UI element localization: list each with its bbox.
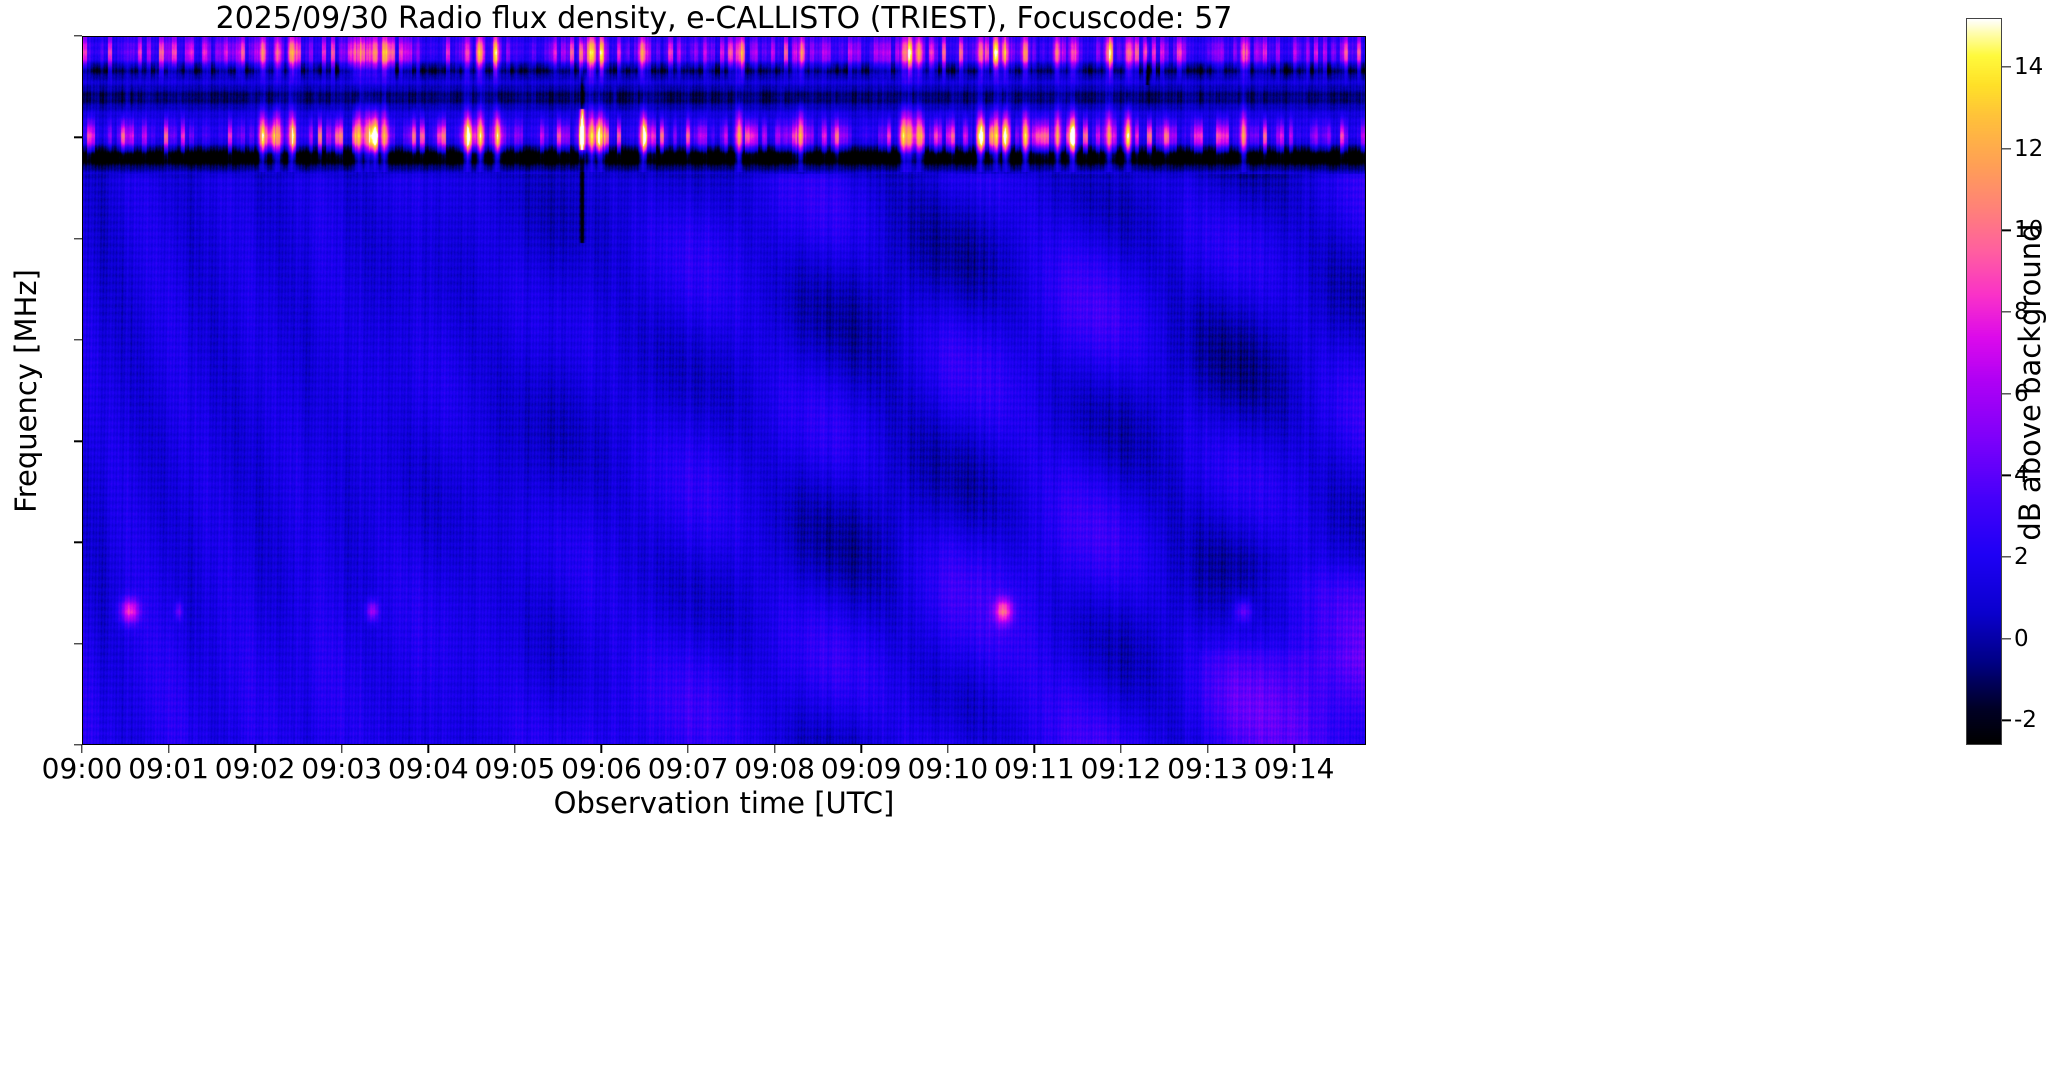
- x-tick-label: 09:09: [821, 752, 902, 785]
- colorbar-tick-label: -2: [2014, 707, 2037, 733]
- colorbar-tick-mark: [2002, 311, 2011, 312]
- x-tick-label: 09:12: [1081, 752, 1162, 785]
- x-tick-label: 09:07: [648, 752, 729, 785]
- x-tick-label: 09:14: [1254, 752, 1335, 785]
- x-axis-label: Observation time [UTC]: [82, 786, 1366, 820]
- x-tick-mark: [601, 745, 602, 753]
- x-tick-label: 09:06: [561, 752, 642, 785]
- x-tick-mark: [341, 745, 342, 753]
- colorbar-tick-mark: [2002, 393, 2011, 394]
- y-axis-label: Frequency [MHz]: [9, 269, 43, 513]
- y-tick-mark: [74, 643, 82, 644]
- colorbar-tick-mark: [2002, 475, 2011, 476]
- x-tick-mark: [947, 745, 948, 753]
- figure-title: 2025/09/30 Radio flux density, e-CALLIST…: [82, 2, 1366, 36]
- x-tick-label: 09:10: [907, 752, 988, 785]
- y-tick-mark: [74, 238, 82, 239]
- spectrogram-axes[interactable]: [82, 36, 1366, 745]
- x-tick-label: 09:11: [994, 752, 1075, 785]
- x-tick-label: 09:02: [215, 752, 296, 785]
- x-tick-label: 09:13: [1167, 752, 1248, 785]
- colorbar-tick-label: 14: [2014, 54, 2043, 80]
- x-tick-mark: [254, 745, 255, 753]
- spectrogram-image[interactable]: [82, 36, 1366, 745]
- x-tick-mark: [428, 745, 429, 753]
- colorbar-tick-mark: [2002, 638, 2011, 639]
- x-tick-label: 09:04: [388, 752, 469, 785]
- x-tick-mark: [687, 745, 688, 753]
- x-tick-mark: [774, 745, 775, 753]
- colorbar-tick-label: 0: [2014, 626, 2029, 652]
- colorbar-tick-mark: [2002, 230, 2011, 231]
- y-tick-mark: [74, 440, 82, 441]
- colorbar-tick-label: 12: [2014, 136, 2043, 162]
- x-tick-mark: [81, 745, 82, 753]
- x-tick-mark: [1293, 745, 1294, 753]
- y-tick-mark: [74, 137, 82, 138]
- x-tick-label: 09:01: [128, 752, 209, 785]
- colorbar-tick-mark: [2002, 556, 2011, 557]
- x-tick-mark: [514, 745, 515, 753]
- colorbar-tick-mark: [2002, 148, 2011, 149]
- colorbar-gradient: [1966, 18, 2002, 745]
- colorbar-tick-mark: [2002, 720, 2011, 721]
- x-tick-mark: [1207, 745, 1208, 753]
- x-tick-mark: [1120, 745, 1121, 753]
- y-tick-mark: [74, 339, 82, 340]
- colorbar-label: dB above background: [2013, 223, 2047, 540]
- x-tick-label: 09:08: [734, 752, 815, 785]
- x-tick-label: 09:03: [301, 752, 382, 785]
- x-tick-mark: [1034, 745, 1035, 753]
- x-tick-mark: [861, 745, 862, 753]
- y-tick-mark: [74, 35, 82, 36]
- x-tick-mark: [168, 745, 169, 753]
- figure-root: 2025/09/30 Radio flux density, e-CALLIST…: [0, 0, 2047, 1067]
- colorbar-tick-label: 2: [2014, 544, 2029, 570]
- y-tick-mark: [74, 542, 82, 543]
- colorbar-tick-mark: [2002, 66, 2011, 67]
- x-tick-label: 09:05: [475, 752, 556, 785]
- colorbar[interactable]: [1966, 18, 2002, 745]
- x-tick-label: 09:00: [42, 752, 123, 785]
